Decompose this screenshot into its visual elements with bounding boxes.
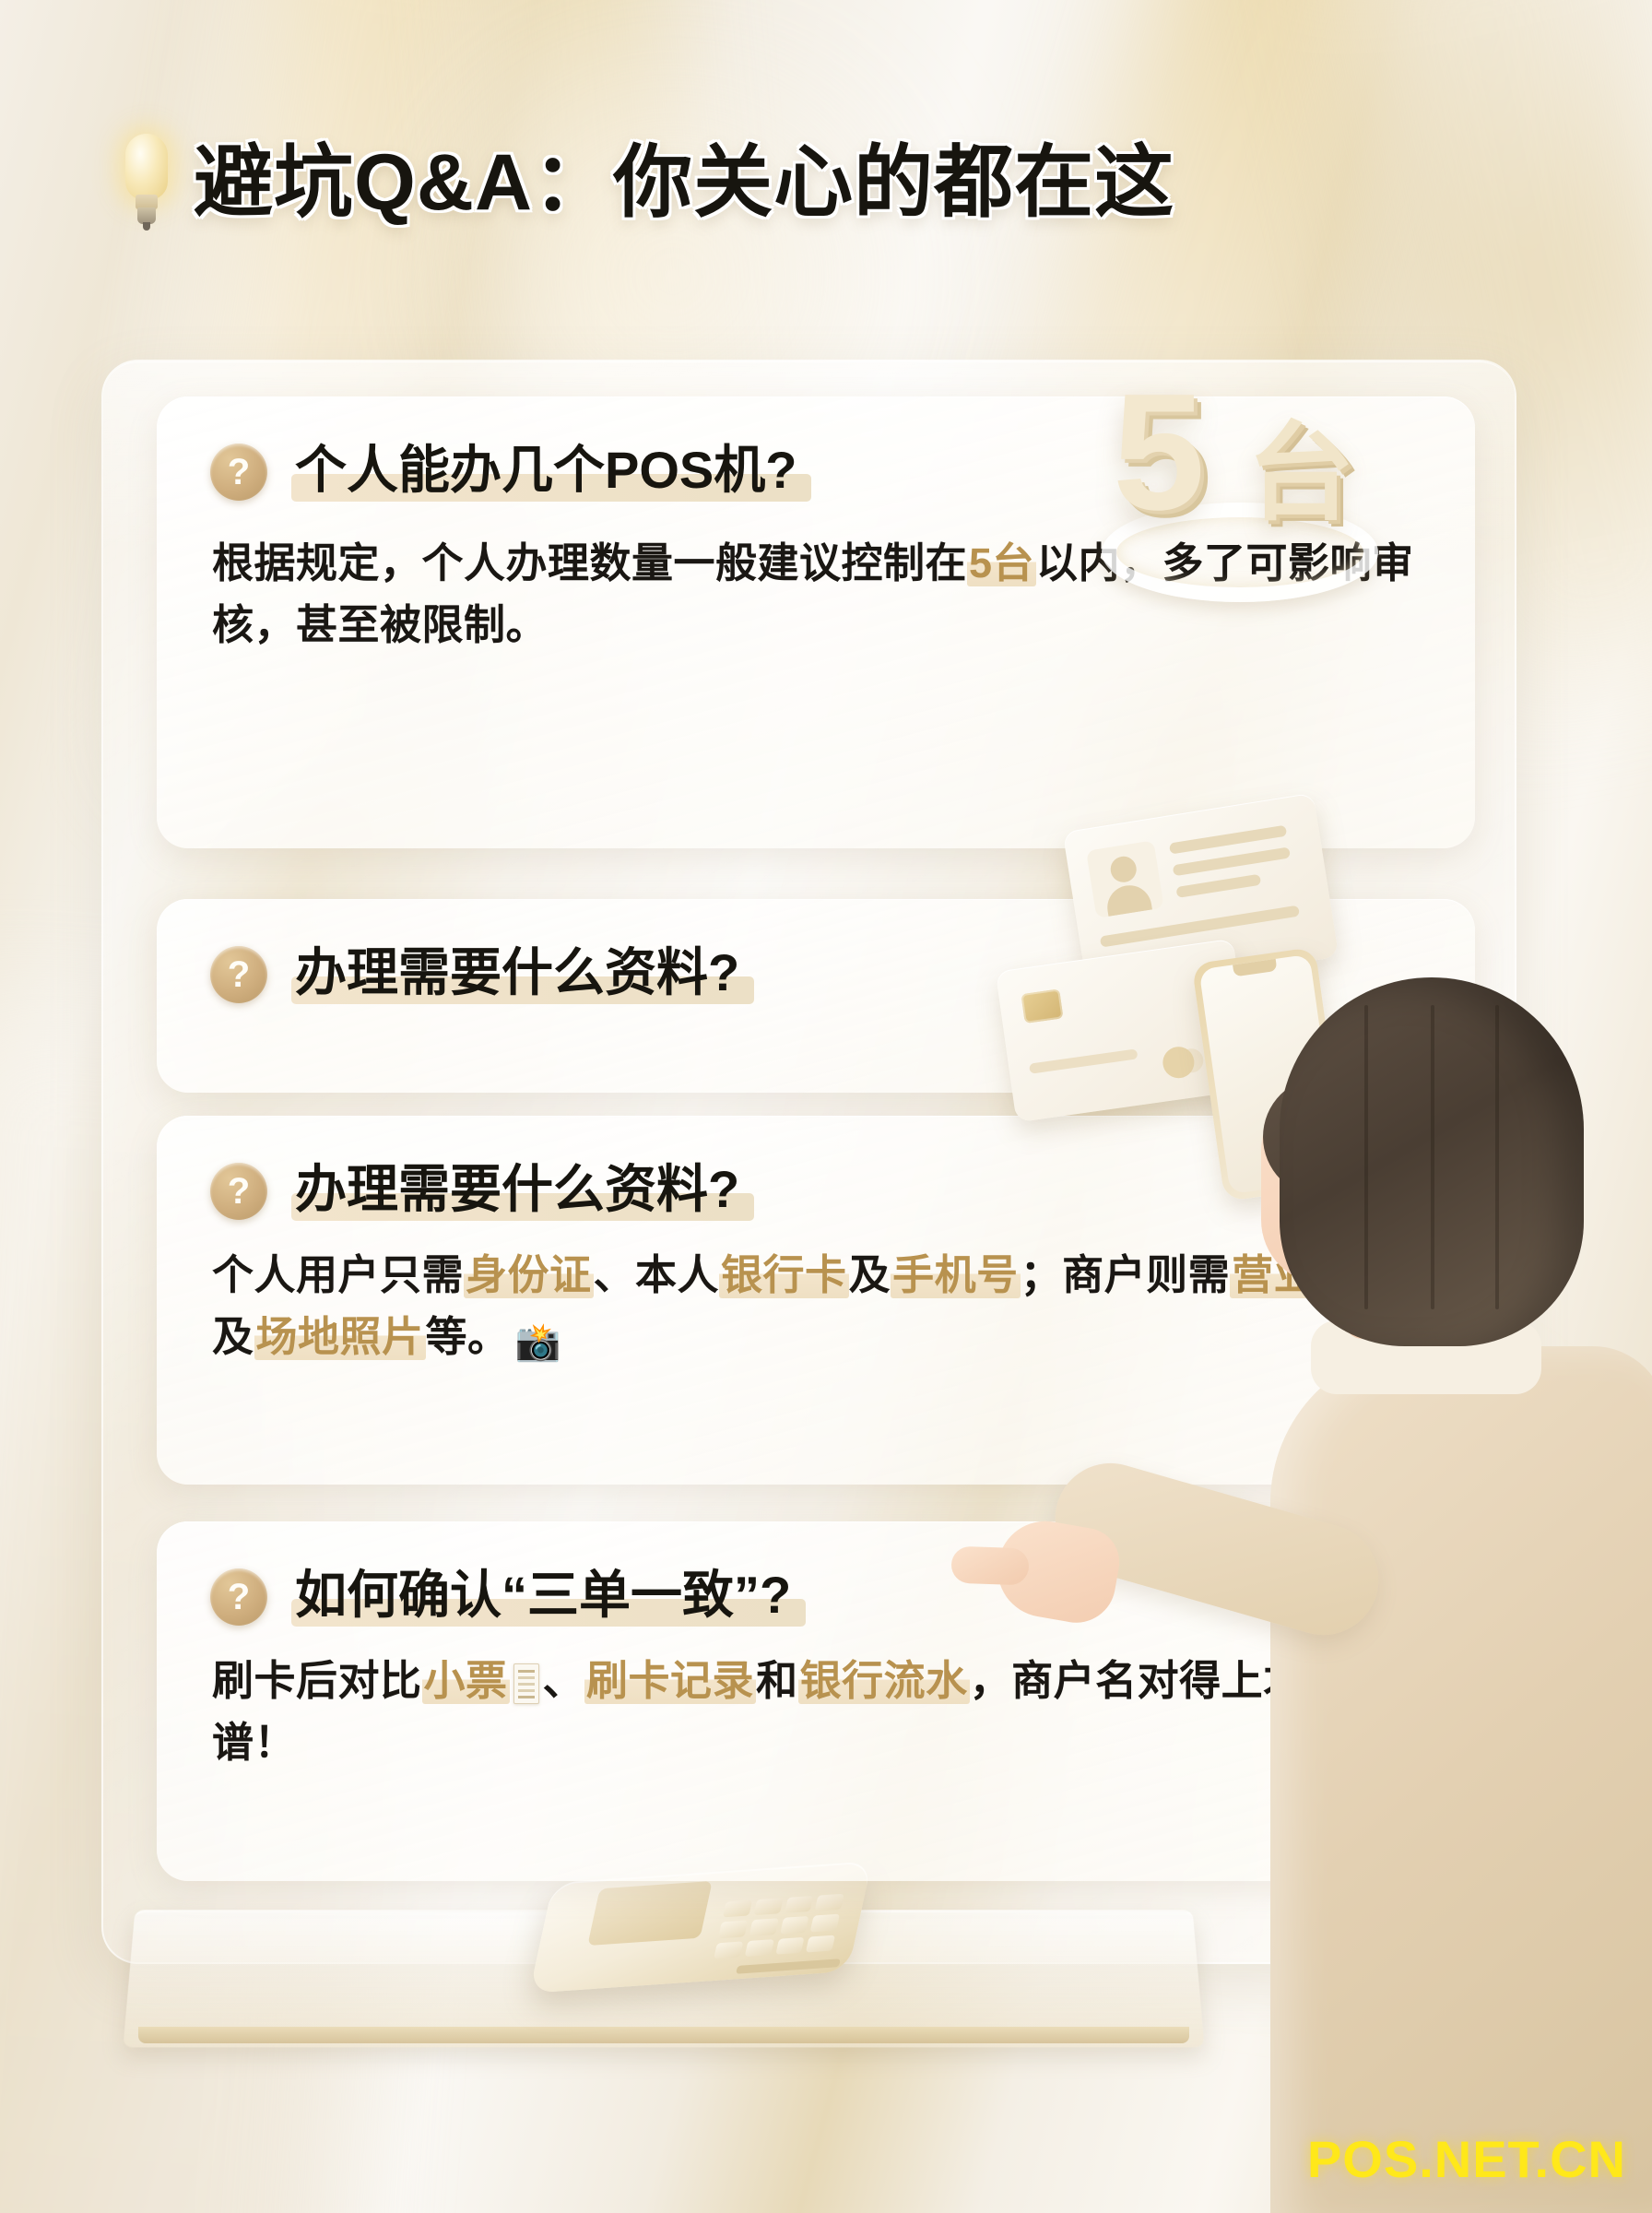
highlighted-term: 手机号: [891, 1251, 1021, 1298]
question-row: ? 如何确认“三单一致”?: [210, 1566, 800, 1628]
watermark: POS.NET.CN: [1307, 2129, 1626, 2189]
receipt-icon: [513, 1663, 539, 1704]
highlighted-term: 小票: [422, 1657, 510, 1704]
question-badge-icon: ?: [210, 444, 267, 501]
lightbulb-icon: [120, 134, 173, 231]
highlighted-term: 5台: [967, 539, 1036, 586]
woman-figure: [1226, 977, 1652, 2213]
highlighted-term: 身份证: [464, 1251, 594, 1298]
question-text: 办理需要什么资料?: [289, 1160, 749, 1223]
poster-root: 避坑Q&A：你关心的都在这 5 台 ? 个人能办几个POS机? 根据规定，个人办…: [0, 0, 1652, 2213]
question-row: ? 办理需要什么资料?: [210, 1160, 749, 1223]
page-header: 避坑Q&A：你关心的都在这: [120, 134, 1174, 231]
highlighted-term: 场地照片: [254, 1313, 426, 1360]
question-badge-icon: ?: [210, 1568, 267, 1626]
question-row: ? 办理需要什么资料?: [210, 943, 749, 1006]
five-number: 5: [1113, 370, 1205, 536]
avatar: [1086, 840, 1164, 918]
glass-table-edge: [138, 2027, 1189, 2043]
question-row: ? 个人能办几个POS机?: [210, 441, 806, 503]
unit-character: 台: [1247, 420, 1354, 527]
chip-icon: [1021, 988, 1063, 1024]
page-title: 避坑Q&A：你关心的都在这: [194, 143, 1174, 222]
highlighted-term: 刷卡记录: [584, 1657, 756, 1704]
question-text: 个人能办几个POS机?: [289, 441, 806, 503]
five-units-3d-decoration: 5 台: [1092, 364, 1406, 613]
highlighted-term: 银行卡: [719, 1251, 849, 1298]
highlighted-term: 银行流水: [798, 1657, 970, 1704]
question-badge-icon: ?: [210, 946, 267, 1003]
question-badge-icon: ?: [210, 1163, 267, 1220]
question-text: 办理需要什么资料?: [289, 943, 749, 1006]
question-text: 如何确认“三单一致”?: [289, 1566, 800, 1628]
camera-icon: 📸: [515, 1322, 561, 1363]
